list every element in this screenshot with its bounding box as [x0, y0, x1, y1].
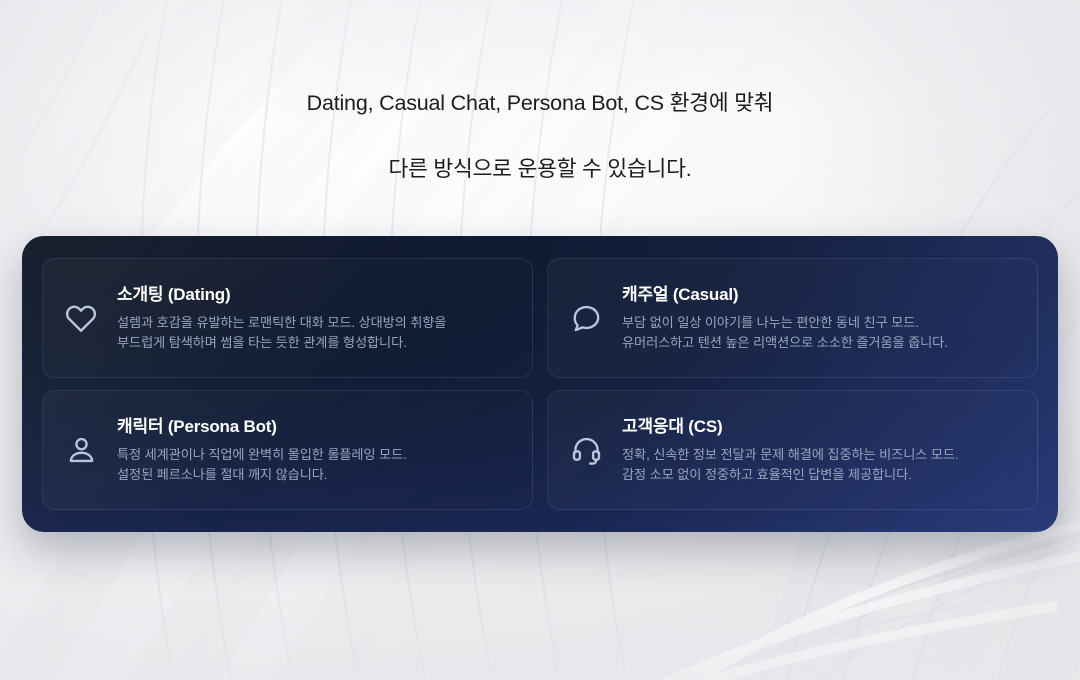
mode-card-description: 특정 세계관이나 직업에 완벽히 몰입한 롤플레잉 모드. 설정된 페르소나를 …	[117, 445, 514, 486]
headline-line-2: 다른 방식으로 운용할 수 있습니다.	[0, 153, 1080, 186]
screenshot-canvas: Dating, Casual Chat, Persona Bot, CS 환경에…	[0, 0, 1080, 680]
mode-card-body: 소개팅 (Dating) 설렘과 호감을 유발하는 로맨틱한 대화 모드. 상대…	[117, 283, 514, 354]
mode-card-body: 캐주얼 (Casual) 부담 없이 일상 이야기를 나누는 편안한 동네 친구…	[622, 283, 1019, 354]
modes-panel: 소개팅 (Dating) 설렘과 호감을 유발하는 로맨틱한 대화 모드. 상대…	[22, 236, 1058, 532]
heart-icon	[61, 298, 101, 338]
mode-card-title: 캐릭터 (Persona Bot)	[117, 416, 514, 438]
headline-line-1: Dating, Casual Chat, Persona Bot, CS 환경에…	[0, 87, 1080, 120]
mode-card-cs[interactable]: 고객응대 (CS) 정확, 신속한 정보 전달과 문제 해결에 집중하는 비즈니…	[547, 390, 1038, 510]
mode-card-description: 부담 없이 일상 이야기를 나누는 편안한 동네 친구 모드. 유머러스하고 텐…	[622, 313, 1019, 354]
mode-card-description: 정확, 신속한 정보 전달과 문제 해결에 집중하는 비즈니스 모드. 감정 소…	[622, 445, 1019, 486]
person-icon	[61, 430, 101, 470]
headset-icon	[566, 430, 606, 470]
mode-card-body: 고객응대 (CS) 정확, 신속한 정보 전달과 문제 해결에 집중하는 비즈니…	[622, 415, 1019, 486]
mode-card-description: 설렘과 호감을 유발하는 로맨틱한 대화 모드. 상대방의 취향을 부드럽게 탐…	[117, 313, 514, 354]
mode-card-dating[interactable]: 소개팅 (Dating) 설렘과 호감을 유발하는 로맨틱한 대화 모드. 상대…	[42, 258, 533, 378]
speech-bubble-icon	[566, 298, 606, 338]
mode-card-persona-bot[interactable]: 캐릭터 (Persona Bot) 특정 세계관이나 직업에 완벽히 몰입한 롤…	[42, 390, 533, 510]
mode-card-title: 캐주얼 (Casual)	[622, 284, 1019, 306]
mode-card-title: 소개팅 (Dating)	[117, 284, 514, 306]
modes-grid: 소개팅 (Dating) 설렘과 호감을 유발하는 로맨틱한 대화 모드. 상대…	[42, 258, 1038, 510]
page-headline: Dating, Casual Chat, Persona Bot, CS 환경에…	[0, 54, 1080, 219]
mode-card-casual[interactable]: 캐주얼 (Casual) 부담 없이 일상 이야기를 나누는 편안한 동네 친구…	[547, 258, 1038, 378]
mode-card-title: 고객응대 (CS)	[622, 416, 1019, 438]
mode-card-body: 캐릭터 (Persona Bot) 특정 세계관이나 직업에 완벽히 몰입한 롤…	[117, 415, 514, 486]
